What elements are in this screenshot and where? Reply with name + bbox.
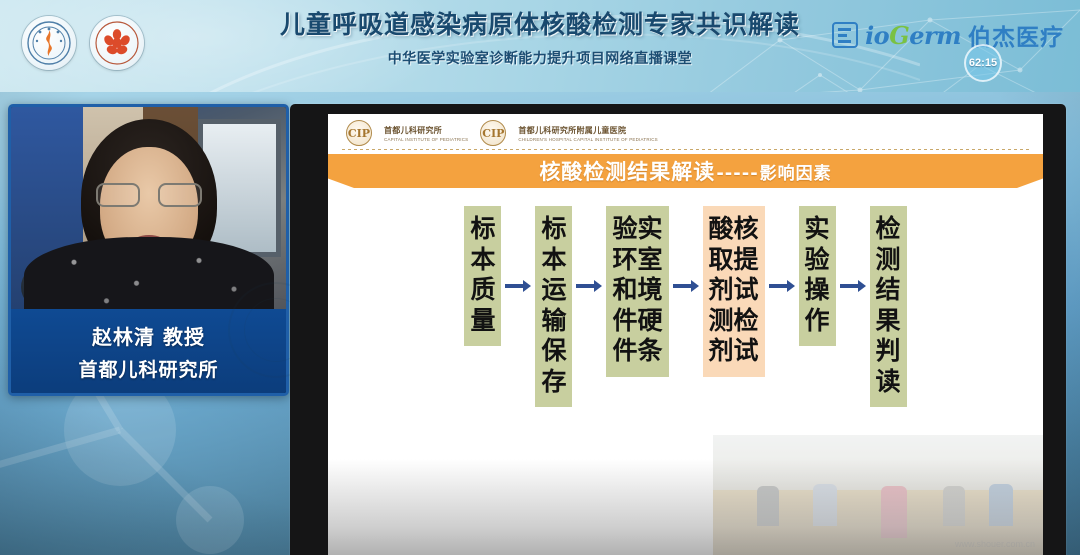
presenter-name: 赵林清 教授 [92,321,205,350]
sponsor-logo: ioGerm 伯杰医疗 [832,18,1064,52]
flow-char: 境 [637,275,662,306]
flow-char: 剂 [709,275,734,306]
flow-step-result-judgement-col-1: 检测结果判读 [876,214,901,397]
flow-char: 环 [612,245,637,276]
photo-person-1 [757,486,779,526]
slide-title-tail: 影响因素 [760,159,832,184]
flow-char: 结 [876,275,901,306]
session-timer-badge: 62:15 [964,44,1002,82]
organization-emblems [22,16,144,70]
flow-arrow-5 [836,206,870,366]
flow-char: 和 [612,275,637,306]
biogerm-erm: erm [909,21,961,50]
flow-char: 测 [709,306,734,337]
flow-step-reagents-col-2: 酸取剂测剂 [709,214,734,367]
livestream-window: 儿童呼吸道感染病原体核酸检测专家共识解读 中华医学实验室诊断能力提升项目网络直播… [0,0,1080,555]
photo-person-5 [989,484,1013,526]
flow-step-specimen-quality: 标本质量 [464,206,501,346]
flow-char: 酸 [709,214,734,245]
flow-step-reagents: 核提试检试酸取剂测剂 [703,206,765,377]
slide-title: 核酸检测结果解读-----影响因素 [539,156,831,186]
flow-char: 检 [876,214,901,245]
slide-title-banner: 核酸检测结果解读-----影响因素 [328,154,1043,188]
flow-arrow-3 [669,206,703,366]
emblem-cma-icon [22,16,76,70]
flow-char: 本 [470,245,495,276]
flow-char: 测 [876,245,901,276]
header-banner: 儿童呼吸道感染病原体核酸检测专家共识解读 中华医学实验室诊断能力提升项目网络直播… [0,0,1080,92]
flow-arrow-4 [765,206,799,366]
flow-char: 件 [612,336,637,367]
flow-arrow-2 [572,206,606,366]
decorative-photo: www.shouer.com.cn [713,435,1043,555]
emblem-charb-icon [90,16,144,70]
flow-char: 存 [541,367,566,398]
photo-watermark: www.shouer.com.cn [955,539,1035,549]
biogerm-g: G [889,21,909,50]
flow-arrow-1 [501,206,535,366]
flow-char: 质 [470,275,495,306]
photo-person-3 [881,486,907,538]
flow-char: 试 [734,336,759,367]
flow-char: 验 [805,245,830,276]
flow-char: 条 [637,336,662,367]
flow-step-lab-operation: 实验操作 [799,206,836,346]
flow-char: 实 [637,214,662,245]
biogerm-mark-icon [832,22,858,48]
flow-step-specimen-quality-col-1: 标本质量 [470,214,495,336]
flow-char: 室 [637,245,662,276]
flow-char: 检 [734,306,759,337]
presenter-video-panel[interactable]: 赵林清 教授 首都儿科研究所 [8,104,289,396]
slide-header-logos: CIP 首都儿科研究所 CAPITAL INSTITUTE OF PEDIATR… [328,114,1043,152]
flow-char: 取 [709,245,734,276]
flow-char: 运 [541,275,566,306]
childrens-hospital-text: 首都儿科研究所附属儿童医院 CHILDREN'S HOSPITAL CAPITA… [518,125,658,142]
flow-char: 件 [612,306,637,337]
childrens-hospital-en: CHILDREN'S HOSPITAL CAPITAL INSTITUTE OF… [518,137,658,142]
flow-char: 标 [541,214,566,245]
presenter-organization: 首都儿科研究所 [78,355,218,382]
childrens-hospital-cn: 首都儿科研究所附属儿童医院 [518,125,658,136]
flow-char: 果 [876,306,901,337]
flow-char: 输 [541,306,566,337]
flow-char: 剂 [709,336,734,367]
flow-char: 实 [805,214,830,245]
flow-char: 作 [805,306,830,337]
flow-char: 提 [734,245,759,276]
flow-step-lab-operation-col-1: 实验操作 [805,214,830,336]
cip-institute-text: 首都儿科研究所 CAPITAL INSTITUTE OF PEDIATRICS [384,125,468,142]
flow-char: 本 [541,245,566,276]
cut-off-bottom-text [18,541,25,555]
flow-step-lab-environment-col-1: 实室境硬条 [637,214,662,367]
slide-content: CIP 首都儿科研究所 CAPITAL INSTITUTE OF PEDIATR… [328,114,1043,555]
slide-viewport[interactable]: CIP 首都儿科研究所 CAPITAL INSTITUTE OF PEDIATR… [290,104,1066,555]
flow-step-lab-environment-col-2: 验环和件件 [612,214,637,367]
flow-char: 量 [470,306,495,337]
flow-char: 核 [734,214,759,245]
flow-step-result-judgement: 检测结果判读 [870,206,907,407]
webcam-feed[interactable] [11,107,286,315]
slide-header-divider [342,149,1029,150]
cip-institute-cn: 首都儿科研究所 [384,125,468,136]
flow-step-lab-environment: 实室境硬条验环和件件 [606,206,668,377]
charb-emblem-glyph [94,20,140,66]
flow-char: 读 [876,367,901,398]
flow-step-specimen-transport-col-1: 标本运输保存 [541,214,566,397]
presenter-name-plate: 赵林清 教授 首都儿科研究所 [11,309,286,393]
biogerm-io: io [865,21,889,50]
flow-char: 保 [541,336,566,367]
cip-seal-icon: CIP [346,120,372,146]
flow-char: 操 [805,275,830,306]
cip-institute-en: CAPITAL INSTITUTE OF PEDIATRICS [384,137,468,142]
photo-person-4 [943,486,965,526]
cma-emblem-glyph [26,20,72,66]
flow-step-reagents-col-1: 核提试检试 [734,214,759,367]
flow-char: 标 [470,214,495,245]
slide-title-dashes: ----- [715,163,759,184]
flow-char: 判 [876,336,901,367]
presenter-torso [24,237,274,315]
flow-step-specimen-transport: 标本运输保存 [535,206,572,407]
flow-char: 试 [734,275,759,306]
flow-char: 硬 [637,306,662,337]
childrens-hospital-seal-icon: CIP [480,120,506,146]
biogerm-wordmark: ioGerm [865,21,961,50]
slide-title-main: 核酸检测结果解读 [539,156,715,186]
photo-person-2 [813,484,837,526]
presenter-glasses [96,183,202,209]
process-flow-diagram: 标本质量标本运输保存实室境硬条验环和件件核提试检试酸取剂测剂实验操作检测结果判读 [328,206,1043,407]
flow-char: 验 [612,214,637,245]
